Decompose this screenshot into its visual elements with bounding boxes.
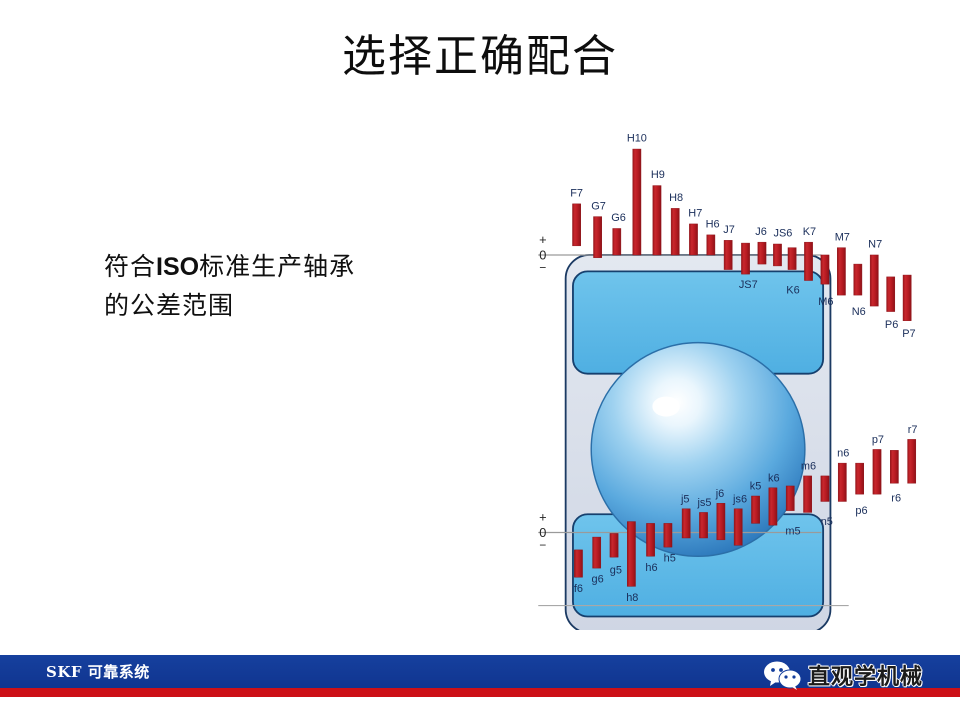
tolerance-bar-label: N6 [852,306,866,318]
tolerance-bar-label: H7 [688,208,702,220]
tolerance-bar-label: H8 [669,192,683,204]
tolerance-bar-label: F7 [570,188,583,200]
upper-axis-minus: − [539,260,546,274]
tolerance-bar-label: H9 [651,169,665,181]
tolerance-bar [646,523,654,556]
tolerance-bar [908,439,916,483]
tolerance-bar-label: m6 [801,461,816,473]
tolerance-bar [699,512,707,538]
tolerance-bar [573,204,581,246]
tolerance-bar [870,255,878,306]
tolerance-bar-label: G6 [611,212,626,224]
tolerance-bar [758,242,766,264]
tolerance-bar-label: h8 [626,592,638,604]
bearing-ball-highlight [652,396,679,416]
tolerance-bar [903,275,911,321]
tolerance-bar [890,450,898,483]
tolerance-bar [613,228,621,254]
tolerance-bar [653,186,661,255]
tolerance-bar [627,522,635,587]
tolerance-bar [664,523,672,547]
bearing-illustration [566,255,831,630]
tolerance-bar-label: f6 [574,583,583,595]
tolerance-bar-label: JS6 [774,228,793,240]
tolerance-bar [734,509,742,546]
tolerance-bar-label: P7 [902,328,915,340]
upper-axis-plus: + [539,232,546,247]
watermark: 直观学机械 [762,655,952,695]
tolerance-bar [887,277,895,312]
body-text-line2: 的公差范围 [104,291,234,320]
tolerance-bar-label: p7 [872,434,884,446]
tolerance-bar [751,496,759,523]
body-text-iso: ISO [156,253,199,281]
tolerance-bar [838,463,846,501]
tolerance-bar-label: K7 [803,226,816,238]
tolerance-bar-label: N7 [868,239,882,251]
tolerance-bar-label: H6 [706,219,720,231]
tolerance-bar-label: r6 [891,492,901,504]
tolerance-bar [854,264,862,295]
tolerance-bar [821,476,829,502]
tolerance-bar [769,488,777,525]
tolerance-bar [788,248,796,270]
watermark-text: 直观学机械 [808,659,923,691]
tolerance-bar-label: r7 [908,424,918,436]
tolerance-bar [741,243,749,274]
tolerance-bar-label: j5 [680,493,690,505]
tolerance-bar-label: k6 [768,472,780,484]
bearing-tolerance-diagram: + 0 − + 0 − F7G7G6H10H9H8H7H6J7JS7J6JS6K… [520,110,940,630]
tolerance-bar [707,235,715,255]
tolerance-bar [786,486,794,511]
tolerance-bar [724,240,732,269]
tolerance-bar-label: H10 [627,133,647,145]
tolerance-bar-label: j6 [715,488,725,500]
tolerance-bar-label: g5 [610,565,622,577]
footer-brand-label: SKF 可靠系统 [46,661,150,682]
body-text-line1-pre: 符合 [104,252,156,281]
body-paragraph: 符合ISO标准生产轴承 的公差范围 [104,248,444,326]
tolerance-bar-label: h5 [664,553,676,565]
lower-axis-plus: + [539,510,546,525]
tolerance-bar [633,149,641,255]
tolerance-bar-label: p6 [855,505,867,517]
tolerance-bar-label: G7 [591,200,606,212]
tolerance-bar [773,244,781,266]
lower-axis-minus: − [539,538,546,552]
tolerance-bar-label: J7 [723,224,735,236]
tolerance-bar-label: P6 [885,319,898,331]
tolerance-bar [593,537,601,568]
tolerance-bar [682,509,690,538]
tolerance-bar [821,255,829,284]
tolerance-bar [574,550,582,577]
tolerance-bar-label: n6 [837,448,849,460]
tolerance-bar-label: K6 [786,284,799,296]
tolerance-chart-svg: + 0 − + 0 − F7G7G6H10H9H8H7H6J7JS7J6JS6K… [520,110,940,630]
tolerance-bar-label: JS7 [739,279,758,291]
tolerance-bar-label: js6 [732,493,747,505]
tolerance-bar-label: k5 [750,481,762,493]
tolerance-bar [804,242,812,280]
tolerance-bar-label: n5 [821,516,833,528]
tolerance-bar [837,248,845,295]
tolerance-bar-label: g6 [592,574,604,586]
tolerance-bar-label: J6 [755,226,767,238]
tolerance-bar [689,224,697,255]
tolerance-bar-label: js5 [696,497,711,509]
tolerance-bar [671,208,679,255]
tolerance-bar [856,463,864,494]
tolerance-bar [873,449,881,494]
tolerance-bar [594,217,602,258]
wechat-icon [762,660,804,690]
tolerance-bar-label: h6 [645,562,657,574]
body-text-line1-post: 标准生产轴承 [199,252,355,281]
tolerance-bar [804,476,812,513]
page-title: 选择正确配合 [0,32,960,83]
tolerance-bar-label: M7 [835,231,850,243]
tolerance-bar-label: M6 [818,296,833,308]
tolerance-bar [717,503,725,540]
tolerance-bar-label: m5 [785,525,800,537]
tolerance-bar [610,533,618,557]
